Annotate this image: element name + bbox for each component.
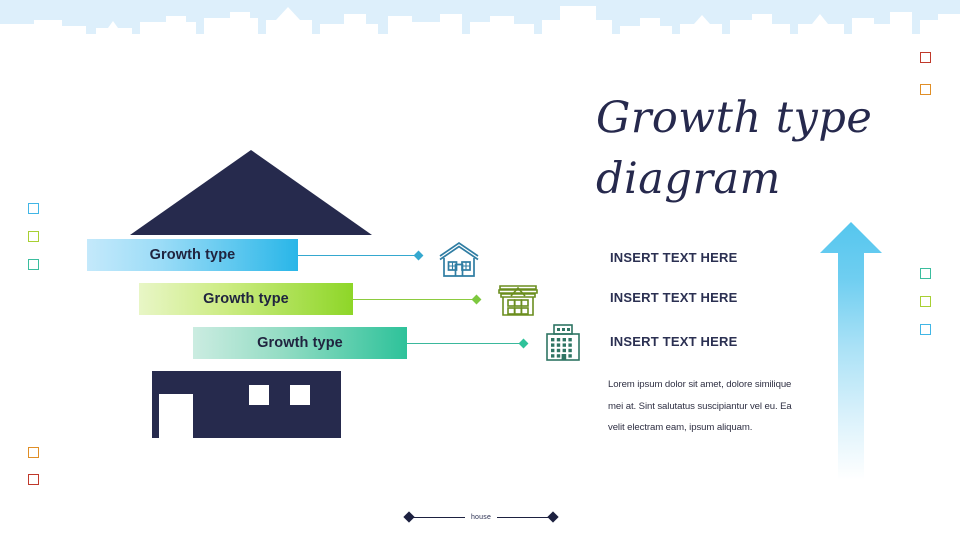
shop-building-line-icon (496, 278, 540, 323)
decor-square-left-1 (28, 203, 39, 214)
connector-diamond-3 (519, 339, 529, 349)
connector-line-2 (353, 295, 480, 304)
decor-square-bottom-left-1 (28, 447, 39, 458)
page-title-line-2: diagram (596, 149, 926, 210)
connector-diamond-2 (472, 295, 482, 305)
insert-text-item-2: INSERT TEXT HERE (610, 290, 737, 305)
office-tower-line-icon (542, 322, 584, 367)
body-paragraph: Lorem ipsum dolor sit amet, dolore simil… (608, 374, 808, 439)
decor-square-top-right-1 (920, 52, 931, 63)
caption-diamond-right (547, 511, 558, 522)
connector-line-3 (407, 339, 527, 348)
page-title: Growth type diagram (596, 88, 926, 210)
growth-bar-1[interactable]: Growth type (87, 239, 298, 271)
growth-bar-2[interactable]: Growth type (139, 283, 353, 315)
growth-bar-3[interactable]: Growth type (193, 327, 407, 359)
house-window-cutout-right (290, 385, 310, 405)
growth-arrow-up-icon (820, 222, 882, 480)
caption-rule-right (497, 517, 549, 518)
page-title-line-1: Growth type (596, 88, 926, 149)
bottom-caption: house (405, 511, 557, 523)
house-door-cutout (159, 394, 193, 438)
insert-text-item-1: INSERT TEXT HERE (610, 250, 737, 265)
decor-square-bottom-left-2 (28, 474, 39, 485)
connector-line-1 (298, 251, 422, 260)
decor-square-left-2 (28, 231, 39, 242)
caption-rule-left (413, 517, 465, 518)
decor-square-right-3 (920, 324, 931, 335)
connector-diamond-1 (414, 251, 424, 261)
house-window-cutout-left (249, 385, 269, 405)
decor-square-right-1 (920, 268, 931, 279)
house-line-icon (437, 240, 481, 285)
connector-rule-2 (353, 299, 480, 300)
caption-diamond-left (403, 511, 414, 522)
growth-bar-2-label: Growth type (203, 291, 289, 307)
skyline-decoration-band (0, 0, 960, 34)
decor-square-left-3 (28, 259, 39, 270)
insert-text-item-3: INSERT TEXT HERE (610, 334, 737, 349)
connector-rule-1 (298, 255, 422, 256)
decor-square-right-2 (920, 296, 931, 307)
caption-label: house (465, 514, 497, 521)
growth-bar-3-label: Growth type (257, 335, 343, 351)
decor-square-top-right-2 (920, 84, 931, 95)
connector-rule-3 (407, 343, 527, 344)
house-roof-shape (130, 150, 372, 235)
growth-bar-1-label: Growth type (150, 247, 236, 263)
